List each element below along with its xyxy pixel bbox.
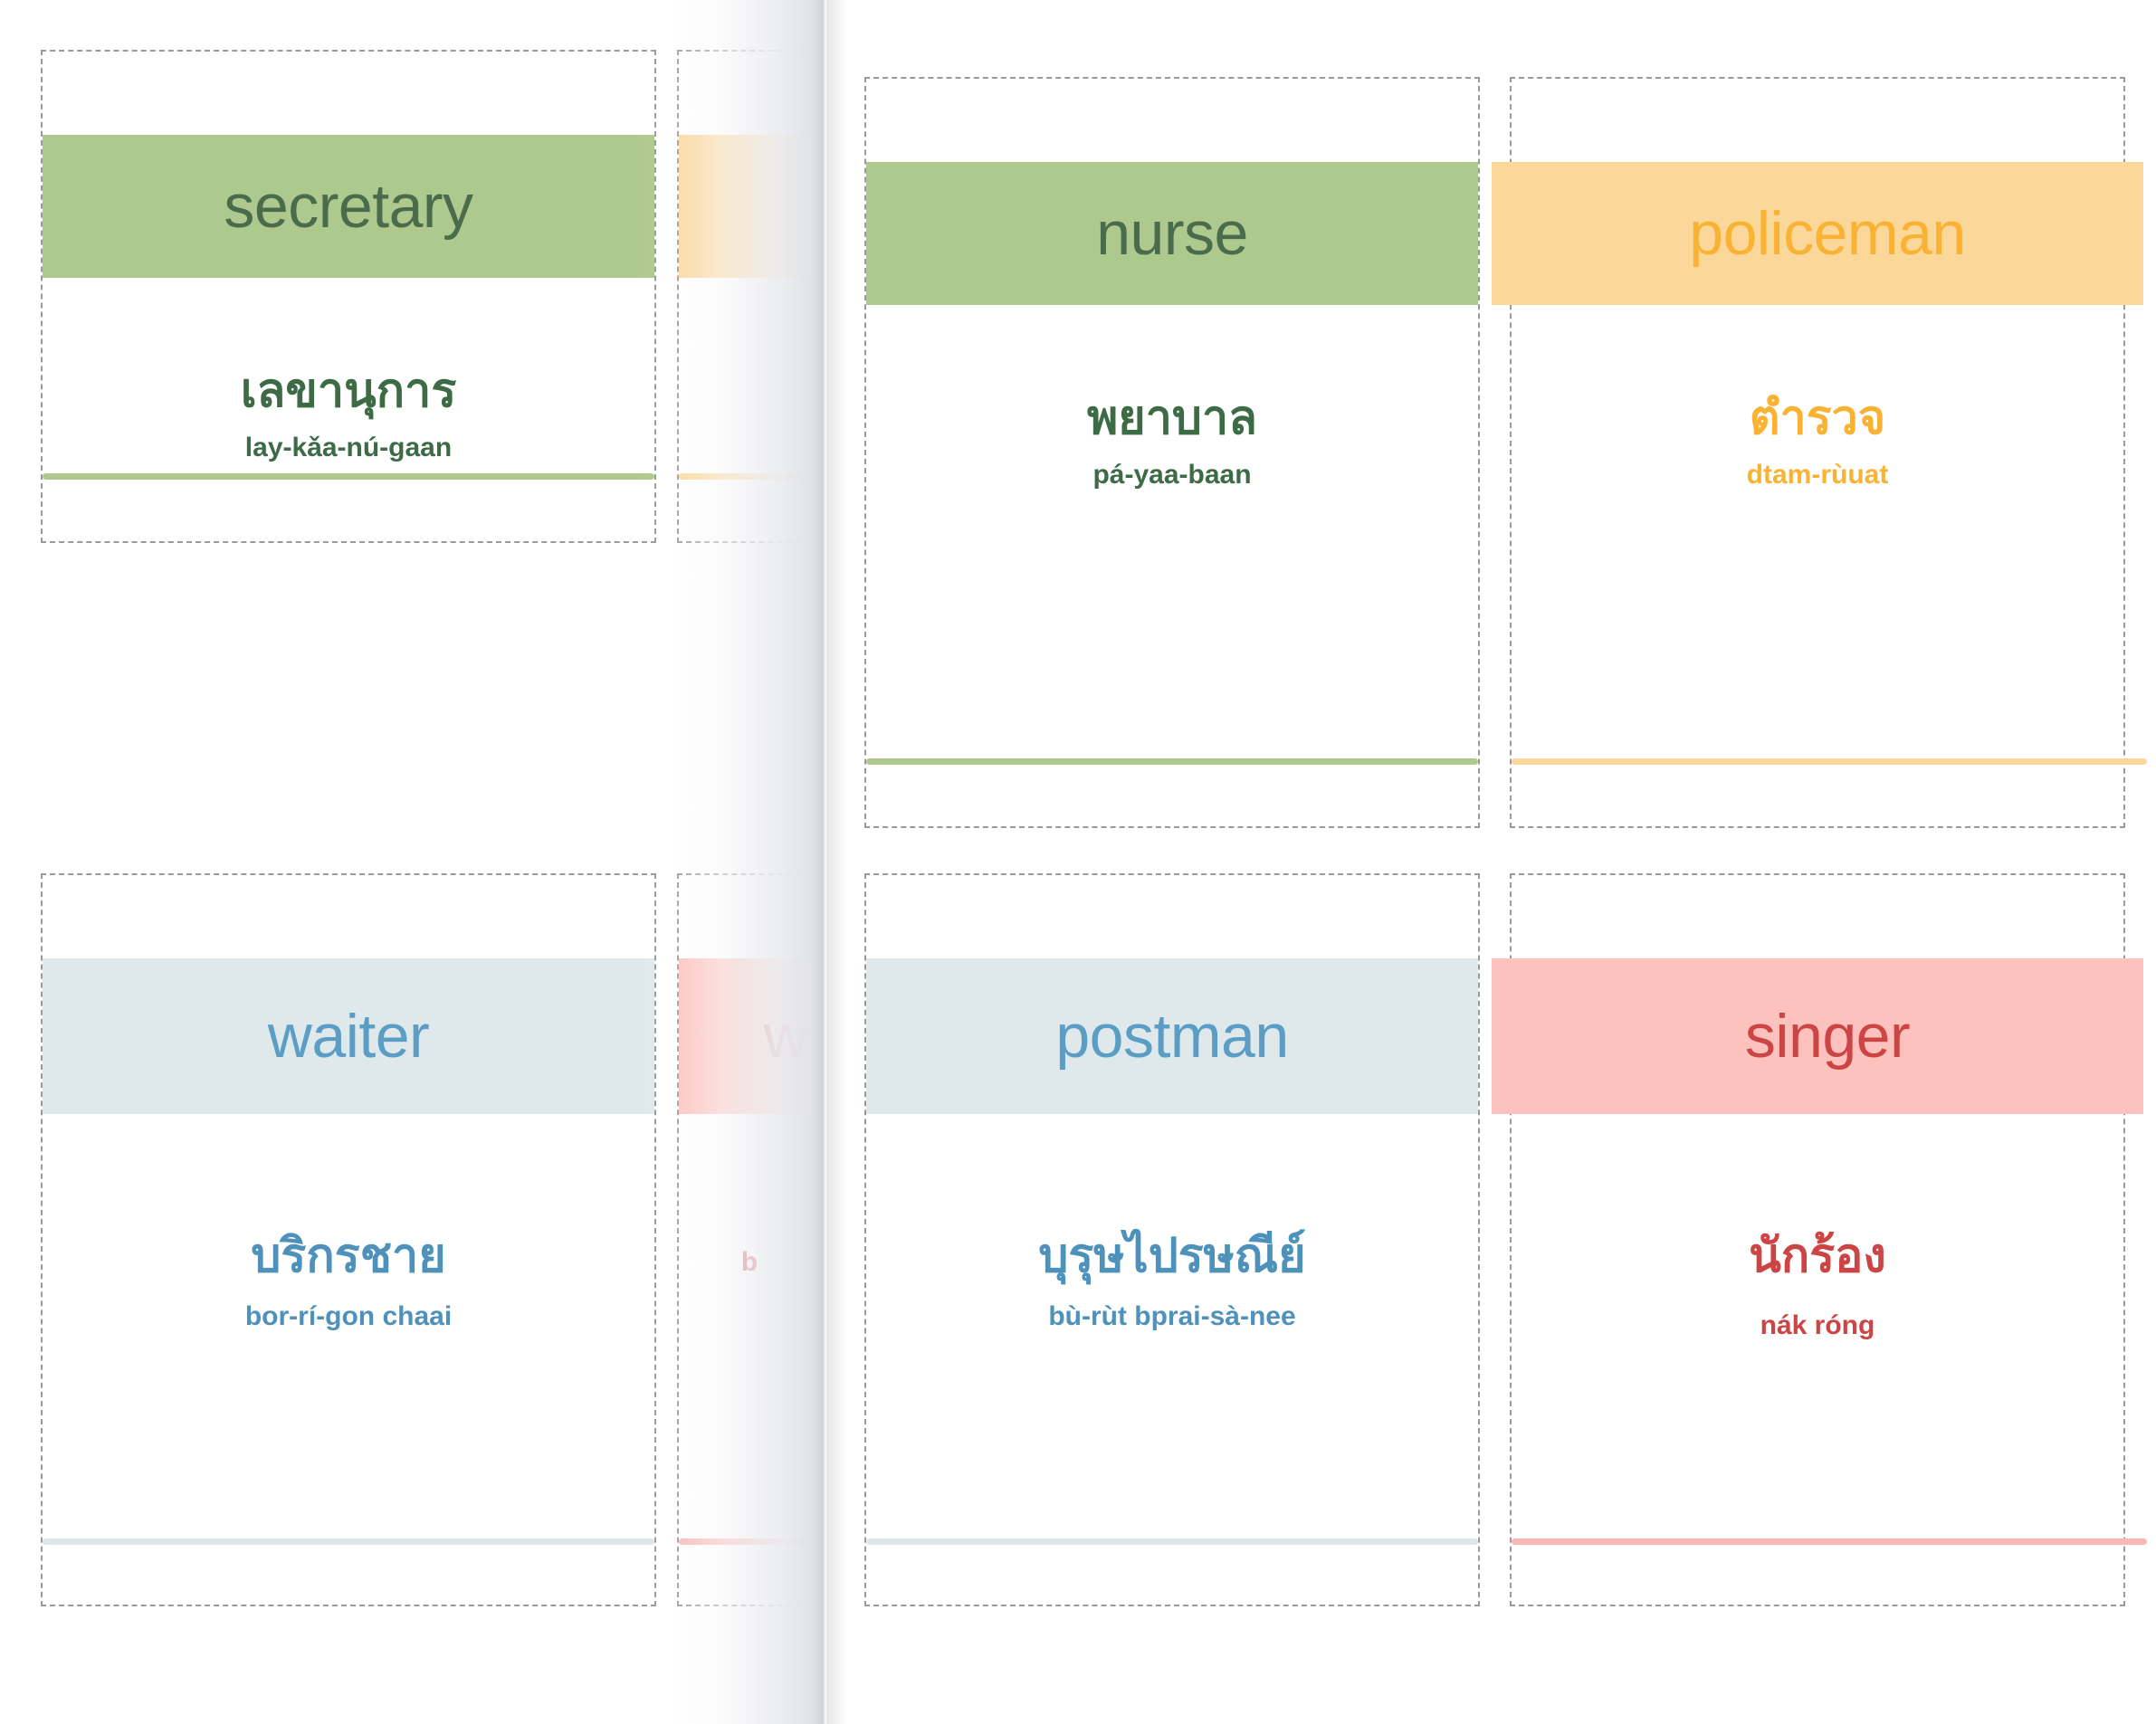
flashcard-nurse[interactable]: nurse พยาบาล pá-yaa-baan	[864, 77, 1480, 828]
card-header-band: policeman	[1492, 162, 2143, 305]
card-divider-rule	[43, 473, 654, 480]
card-english-word: policeman	[1689, 203, 1965, 264]
card-header-band: waiter	[43, 958, 654, 1114]
card-header-band	[679, 135, 825, 278]
card-body: เลขานุการ lay-kǎa-nú-gaan	[43, 278, 654, 541]
card-divider-rule	[679, 1538, 825, 1545]
flashcard-waiter[interactable]: waiter บริกรชาย bor-rí-gon chaai	[41, 873, 656, 1606]
card-top-spacer	[679, 875, 825, 958]
card-divider-rule	[43, 1538, 654, 1545]
card-divider-rule	[679, 473, 825, 480]
card-body: b	[679, 1114, 825, 1605]
card-thai-word: นักร้อง	[1749, 1230, 1886, 1284]
page-left: secretary เลขานุการ lay-kǎa-nú-gaan ch	[0, 0, 825, 1724]
card-romanization: nák róng	[1760, 1310, 1875, 1342]
page-right: nurse พยาบาล pá-yaa-baan policeman ตำรวจ…	[825, 0, 2156, 1724]
card-english-word: waiter	[268, 1005, 429, 1067]
card-divider-rule	[1512, 758, 2147, 765]
card-romanization: dtam-rùuat	[1747, 459, 1889, 491]
card-divider-rule	[1512, 1538, 2147, 1545]
card-header-band: nurse	[866, 162, 1478, 305]
card-top-spacer	[43, 52, 654, 135]
card-thai-word: เลขานุการ	[241, 365, 457, 419]
card-romanization: b	[741, 1246, 758, 1279]
card-header-band: secretary	[43, 135, 654, 278]
card-english-word: w	[764, 1005, 808, 1067]
card-thai-word: บริกรชาย	[251, 1230, 445, 1284]
flashcard-sheet: secretary เลขานุการ lay-kǎa-nú-gaan ch	[0, 0, 2156, 1724]
card-romanization: bù-rùt bprai-sà-nee	[1048, 1300, 1295, 1333]
card-header-band: w	[679, 958, 825, 1114]
card-thai-word: ตำรวจ	[1750, 392, 1886, 446]
card-top-spacer	[866, 79, 1478, 162]
card-english-word: postman	[1055, 1005, 1288, 1067]
card-thai-word: บุรุษไปรษณีย์	[1038, 1230, 1305, 1284]
flashcard-postman[interactable]: postman บุรุษไปรษณีย์ bù-rùt bprai-sà-ne…	[864, 873, 1480, 1606]
flashcard-partial-red[interactable]: w b	[677, 873, 825, 1606]
flashcard-policeman[interactable]: policeman ตำรวจ dtam-rùuat	[1510, 77, 2125, 828]
card-top-spacer	[866, 875, 1478, 958]
card-english-word: singer	[1745, 1005, 1910, 1067]
card-header-band: postman	[866, 958, 1478, 1114]
card-top-spacer	[1512, 79, 2123, 162]
card-header-band: singer	[1492, 958, 2143, 1114]
card-body: บริกรชาย bor-rí-gon chaai	[43, 1114, 654, 1605]
card-body: บุรุษไปรษณีย์ bù-rùt bprai-sà-nee	[866, 1114, 1478, 1605]
card-body: พยาบาล pá-yaa-baan	[866, 305, 1478, 826]
card-romanization: pá-yaa-baan	[1092, 459, 1251, 491]
card-body: ch	[679, 278, 825, 541]
card-divider-rule	[866, 758, 1478, 765]
flashcard-singer[interactable]: singer นักร้อง nák róng	[1510, 873, 2125, 1606]
card-romanization: lay-kǎa-nú-gaan	[245, 432, 452, 464]
card-romanization: ch	[815, 377, 825, 410]
card-english-word: secretary	[224, 176, 472, 237]
flashcard-secretary[interactable]: secretary เลขานุการ lay-kǎa-nú-gaan	[41, 50, 656, 543]
card-body: ตำรวจ dtam-rùuat	[1512, 305, 2123, 826]
card-english-word: nurse	[1096, 203, 1248, 264]
card-romanization: bor-rí-gon chaai	[245, 1300, 452, 1333]
card-thai-word: พยาบาล	[1087, 392, 1257, 446]
flashcard-partial-yellow[interactable]: ch	[677, 50, 825, 543]
card-top-spacer	[43, 875, 654, 958]
card-top-spacer	[1512, 875, 2123, 958]
card-body: นักร้อง nák róng	[1512, 1114, 2123, 1605]
card-divider-rule	[866, 1538, 1478, 1545]
card-top-spacer	[679, 52, 825, 135]
